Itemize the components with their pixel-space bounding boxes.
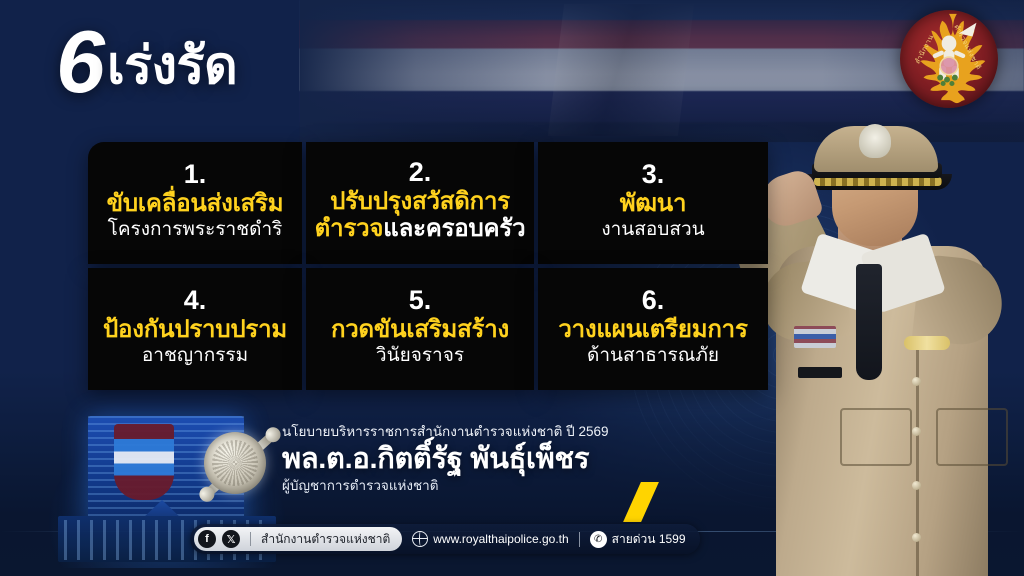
signature-block: นโยบายบริหารราชการสำนักงานตำรวจแห่งชาติ … [282,424,662,495]
globe-icon [412,531,428,547]
card-subline: งานสอบสวน [601,219,704,242]
uniform-pocket-left [840,408,912,466]
uniform-wings-insignia [904,336,950,350]
card-headline: พัฒนา [620,191,687,218]
facebook-icon[interactable]: f [198,530,216,548]
ceremonial-baton-medallion-icon [188,416,282,510]
infographic-canvas: 6 เร่งรัด สำนักงาน [0,0,1024,576]
policy-cards-grid: 1. ขับเคลื่อนส่งเสริม โครงการพระราชดำริ … [88,142,760,390]
card-number: 6. [642,287,665,314]
card-subline: ด้านสาธารณภัย [587,345,719,368]
cap-badge-icon [859,124,891,158]
hotline-item[interactable]: ✆ สายด่วน 1599 [590,530,686,549]
card-headline: วางแผนเตรียมการ [558,317,747,344]
card-subline: อาชญากรรม [142,345,248,368]
pill-divider [250,532,251,546]
policy-card-6[interactable]: 6. วางแผนเตรียมการ ด้านสาธารณภัย [538,268,768,390]
card-headline: ป้องกันปราบปราม [103,317,287,344]
uniform-ribbon-bar [794,326,836,348]
title-word: เร่งรัด [107,40,237,100]
policy-card-5[interactable]: 5. กวดขันเสริมสร้าง วินัยจราจร [306,268,534,390]
card-subline: วินัยจราจร [376,345,464,368]
card-subline: โครงการพระราชดำริ [108,219,283,242]
card-number: 3. [642,161,665,188]
social-account-name: สำนักงานตำรวจแห่งชาติ [261,530,390,549]
policy-line: นโยบายบริหารราชการสำนักงานตำรวจแห่งชาติ … [282,424,662,441]
policy-card-1[interactable]: 1. ขับเคลื่อนส่งเสริม โครงการพระราชดำริ [88,142,302,264]
emblem-text-right: ตำรวจแห่งชาติ [950,23,983,72]
card-number: 5. [409,287,432,314]
commissioner-role: ผู้บัญชาการตำรวจแห่งชาติ [282,477,662,495]
building-shield-emblem [114,424,174,500]
emblem-text-left: สำนักงาน [913,33,938,66]
emblem-ring-text: สำนักงาน ตำรวจแห่งชาติ [900,10,998,108]
page-title: 6 เร่งรัด [56,24,237,100]
cap-gold-braid [814,177,942,186]
phone-icon: ✆ [590,531,607,548]
card-headline-second-line: ตำรวจและครอบครัว [315,216,526,243]
card-number: 2. [409,159,432,186]
uniform-button [912,377,921,386]
hotline-text: สายด่วน 1599 [612,530,686,549]
uniform-nameplate [798,367,842,378]
card-headline: ขับเคลื่อนส่งเสริม [107,191,284,218]
officer-necktie [856,264,882,380]
uniform-button [912,481,921,490]
policy-card-4[interactable]: 4. ป้องกันปราบปราม อาชญากรรม [88,268,302,390]
title-number: 6 [56,24,103,100]
policy-card-3[interactable]: 3. พัฒนา งานสอบสวน [538,142,768,264]
card-number: 1. [184,161,207,188]
website-url: www.royalthaipolice.go.th [433,532,568,546]
social-pill[interactable]: f 𝕏 สำนักงานตำรวจแห่งชาติ [194,527,402,551]
card-headline-plain: และครอบครัว [383,215,525,242]
commissioner-name: พล.ต.อ.กิตติ์รัฐ พันธุ์เพ็ชร [282,443,662,475]
uniform-button [912,427,921,436]
medallion-disc [204,432,266,494]
card-headline-accent: ตำรวจ [315,215,384,242]
royal-thai-police-emblem-icon: สำนักงาน ตำรวจแห่งชาติ [900,10,998,108]
card-headline: ปรับปรุงสวัสดิการ [330,189,510,216]
x-twitter-icon[interactable]: 𝕏 [222,530,240,548]
footer-bar: f 𝕏 สำนักงานตำรวจแห่งชาติ www.royalthaip… [190,524,700,554]
footer-divider [579,532,580,547]
card-number: 4. [184,287,207,314]
uniform-pocket-right [936,408,1008,466]
policy-card-2[interactable]: 2. ปรับปรุงสวัสดิการ ตำรวจและครอบครัว [306,142,534,264]
website-item[interactable]: www.royalthaipolice.go.th [412,531,568,547]
uniform-button [912,533,921,542]
card-headline: กวดขันเสริมสร้าง [331,317,509,344]
